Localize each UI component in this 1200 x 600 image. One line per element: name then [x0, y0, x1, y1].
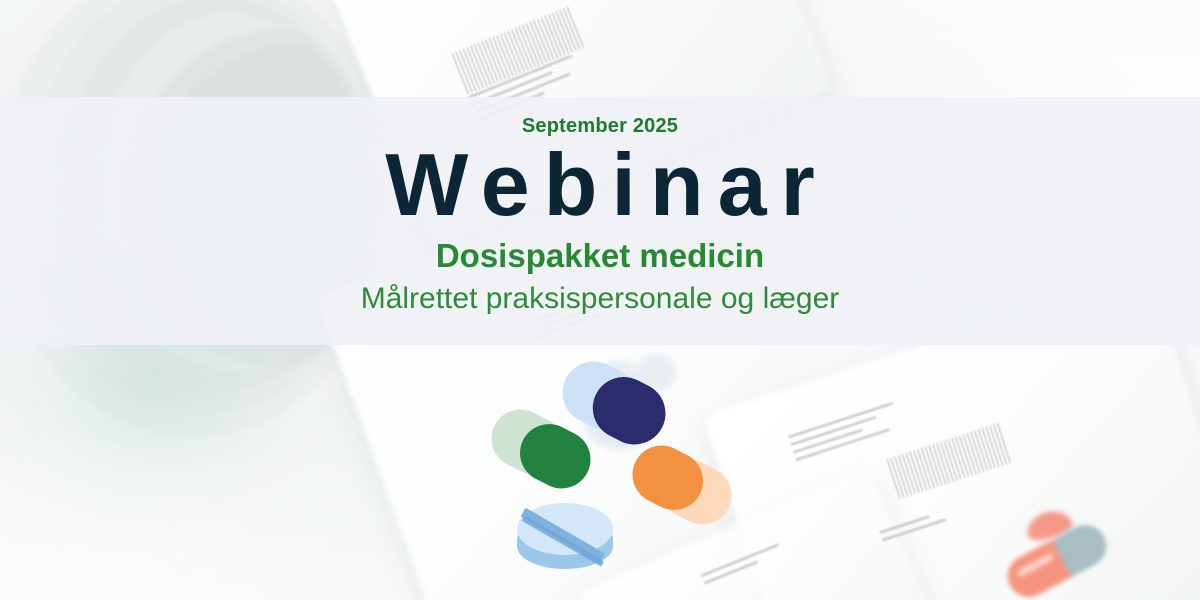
event-subtitle: Dosispakket medicin	[0, 231, 1200, 275]
headline-band: September 2025 Webinar Dosispakket medic…	[0, 97, 1200, 345]
target-audience: Målrettet praksispersonale og læger	[0, 275, 1200, 317]
event-date: September 2025	[0, 97, 1200, 138]
headline-band-content: September 2025 Webinar Dosispakket medic…	[0, 97, 1200, 345]
webinar-banner: September 2025 Webinar Dosispakket medic…	[0, 0, 1200, 600]
tablet-round-blue	[517, 503, 613, 577]
page-title: Webinar	[0, 138, 1200, 231]
